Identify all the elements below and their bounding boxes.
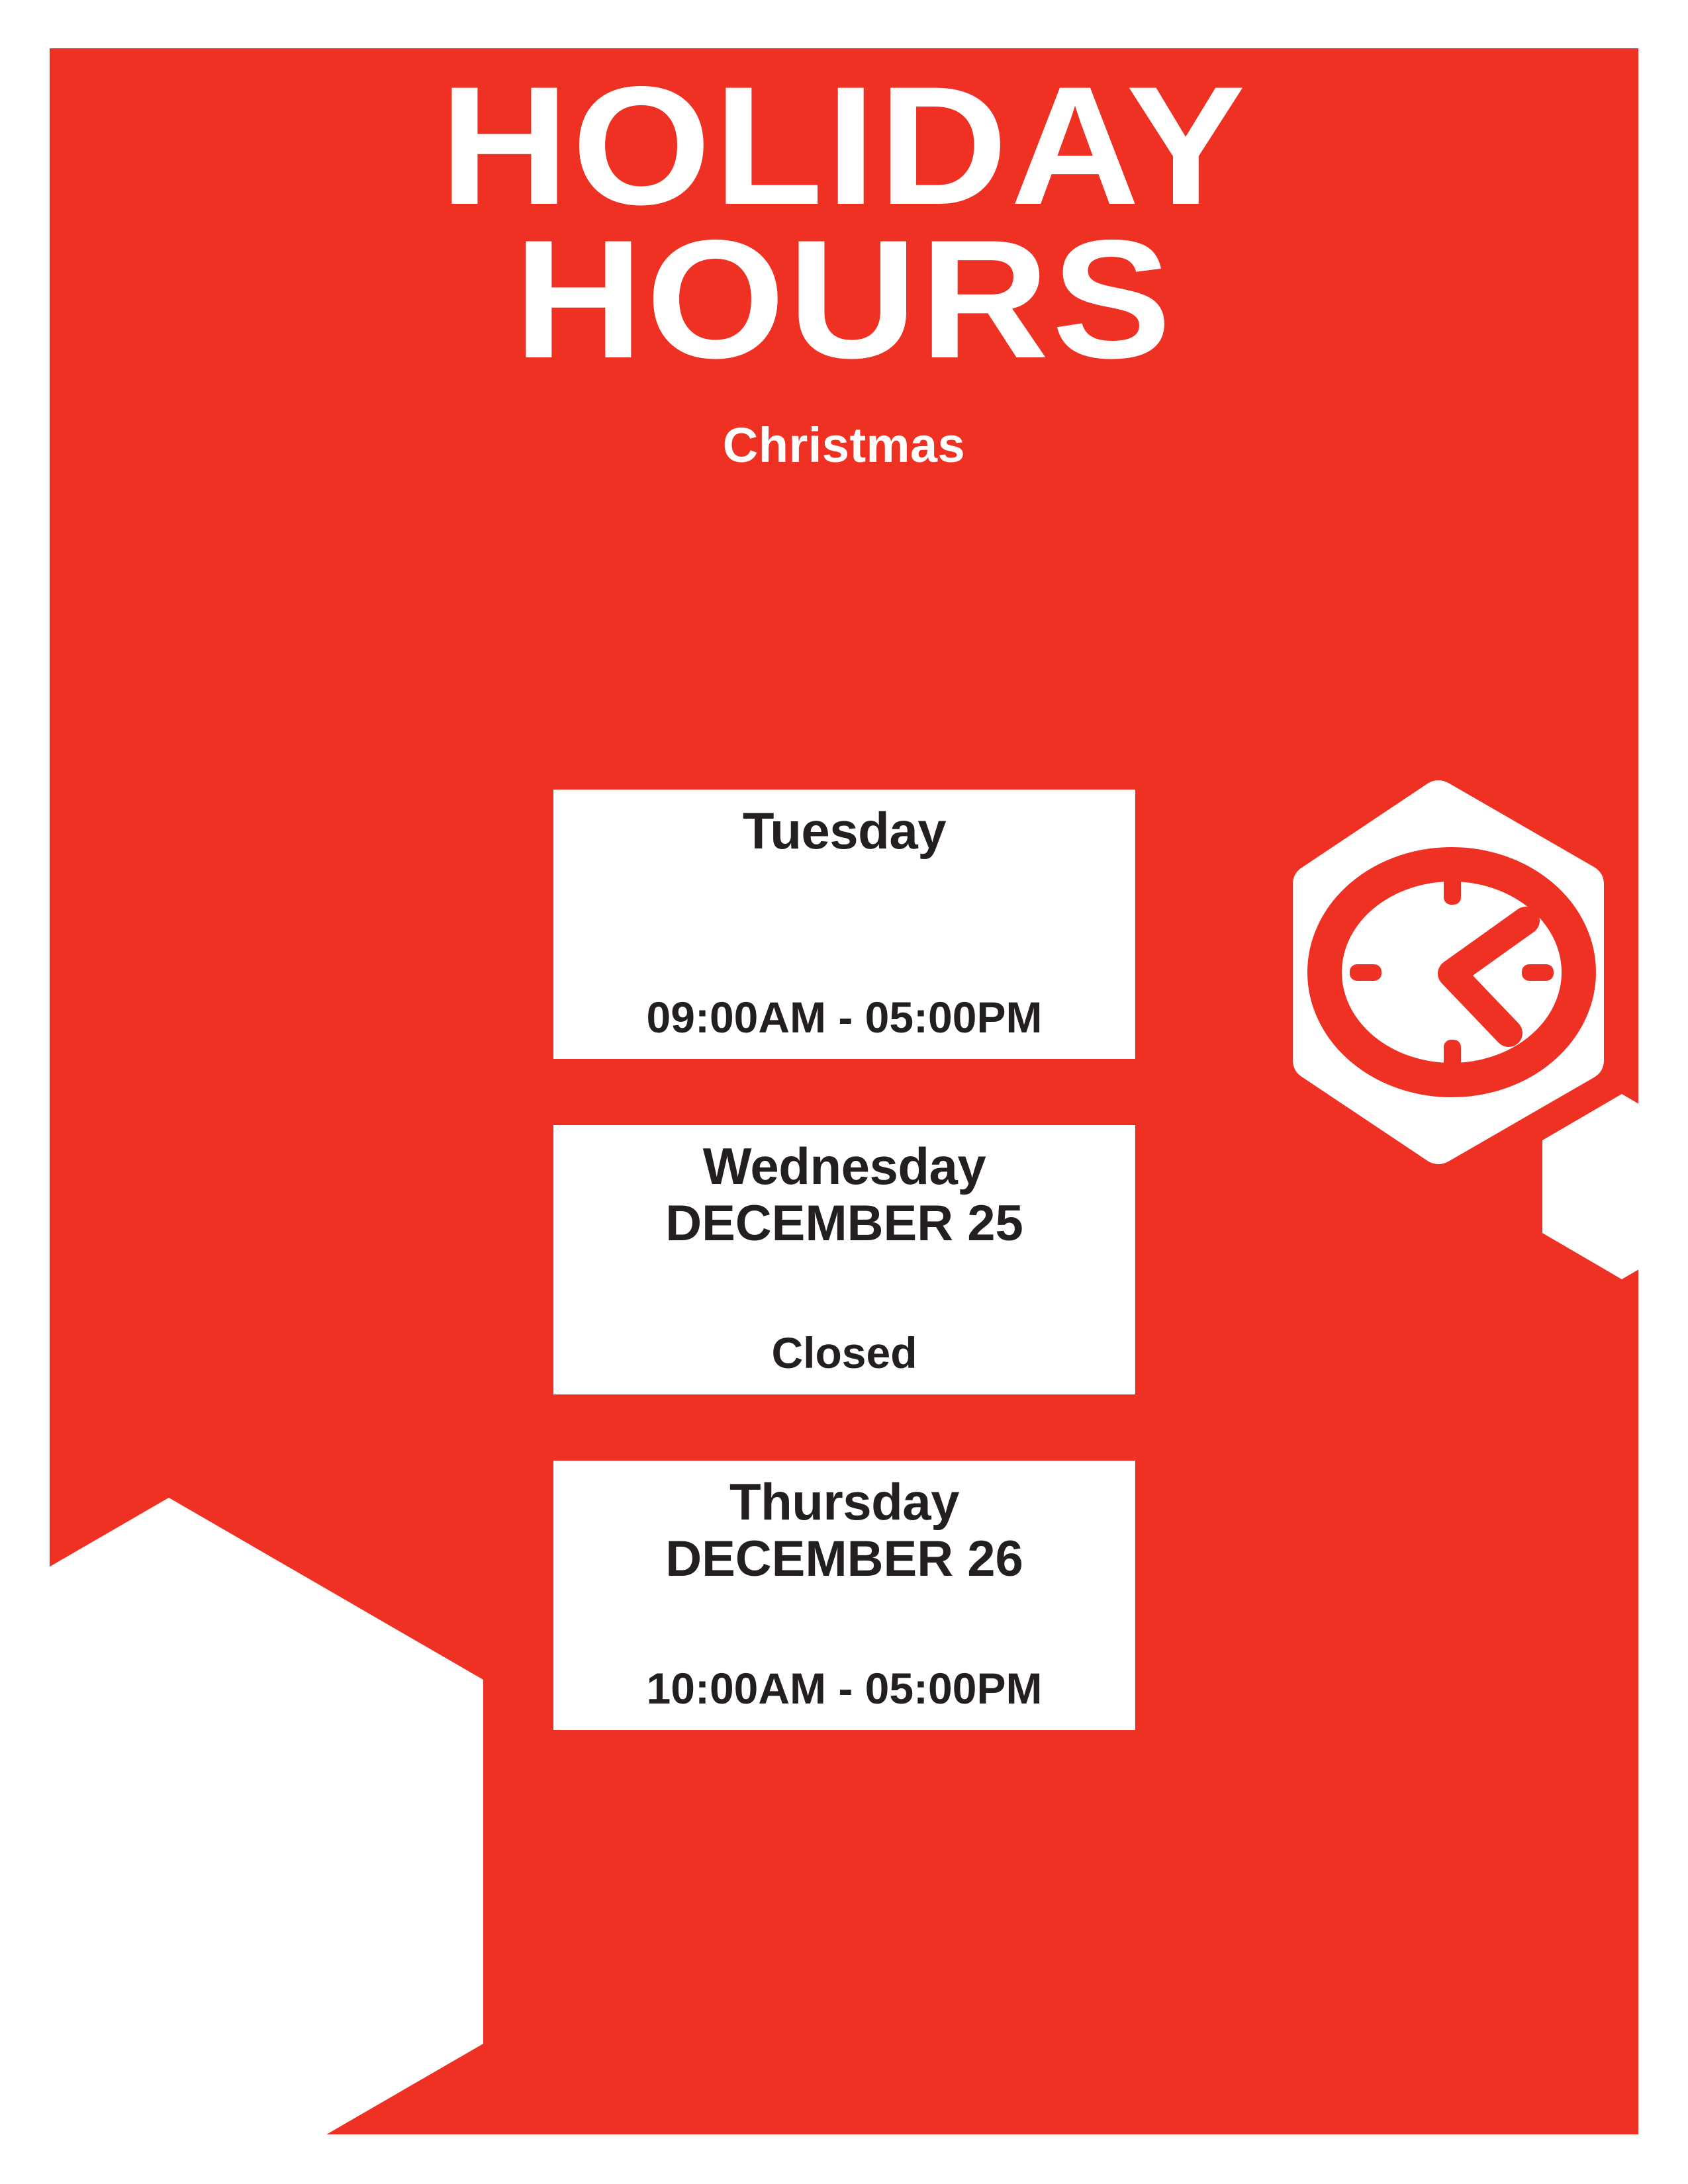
clock-face-shape <box>1325 864 1579 1080</box>
clock-hexagon-icon <box>1293 774 1604 1171</box>
poster-headline: HOLIDAY HOURS Christmas <box>50 48 1638 470</box>
holiday-hours-poster: HOLIDAY HOURS Christmas Tuesday 09:00AM … <box>0 0 1688 2184</box>
schedule-card-date: DECEMBER 26 <box>665 1529 1023 1589</box>
schedule-card-list: Tuesday 09:00AM - 05:00PM Wednesday DECE… <box>553 790 1135 1730</box>
page-title-line-1: HOLIDAY <box>50 72 1638 220</box>
schedule-card-hours: Closed <box>771 1331 917 1375</box>
red-background-panel: HOLIDAY HOURS Christmas Tuesday 09:00AM … <box>50 48 1638 2134</box>
poster-subtitle: Christmas <box>50 421 1638 470</box>
schedule-card-hours: 09:00AM - 05:00PM <box>647 995 1043 1039</box>
schedule-card-day: Wednesday <box>703 1140 986 1194</box>
schedule-card-day: Tuesday <box>743 804 946 858</box>
schedule-card: Thursday DECEMBER 26 10:00AM - 05:00PM <box>553 1461 1135 1730</box>
schedule-card-hours: 10:00AM - 05:00PM <box>647 1666 1043 1710</box>
hexagon-decoration-icon-large <box>50 1498 483 2134</box>
schedule-card: Wednesday DECEMBER 25 Closed <box>553 1125 1135 1394</box>
page-title-line-2: HOURS <box>50 226 1638 374</box>
schedule-card-date: DECEMBER 25 <box>665 1194 1023 1253</box>
schedule-card-day: Thursday <box>729 1475 959 1529</box>
schedule-card: Tuesday 09:00AM - 05:00PM <box>553 790 1135 1059</box>
